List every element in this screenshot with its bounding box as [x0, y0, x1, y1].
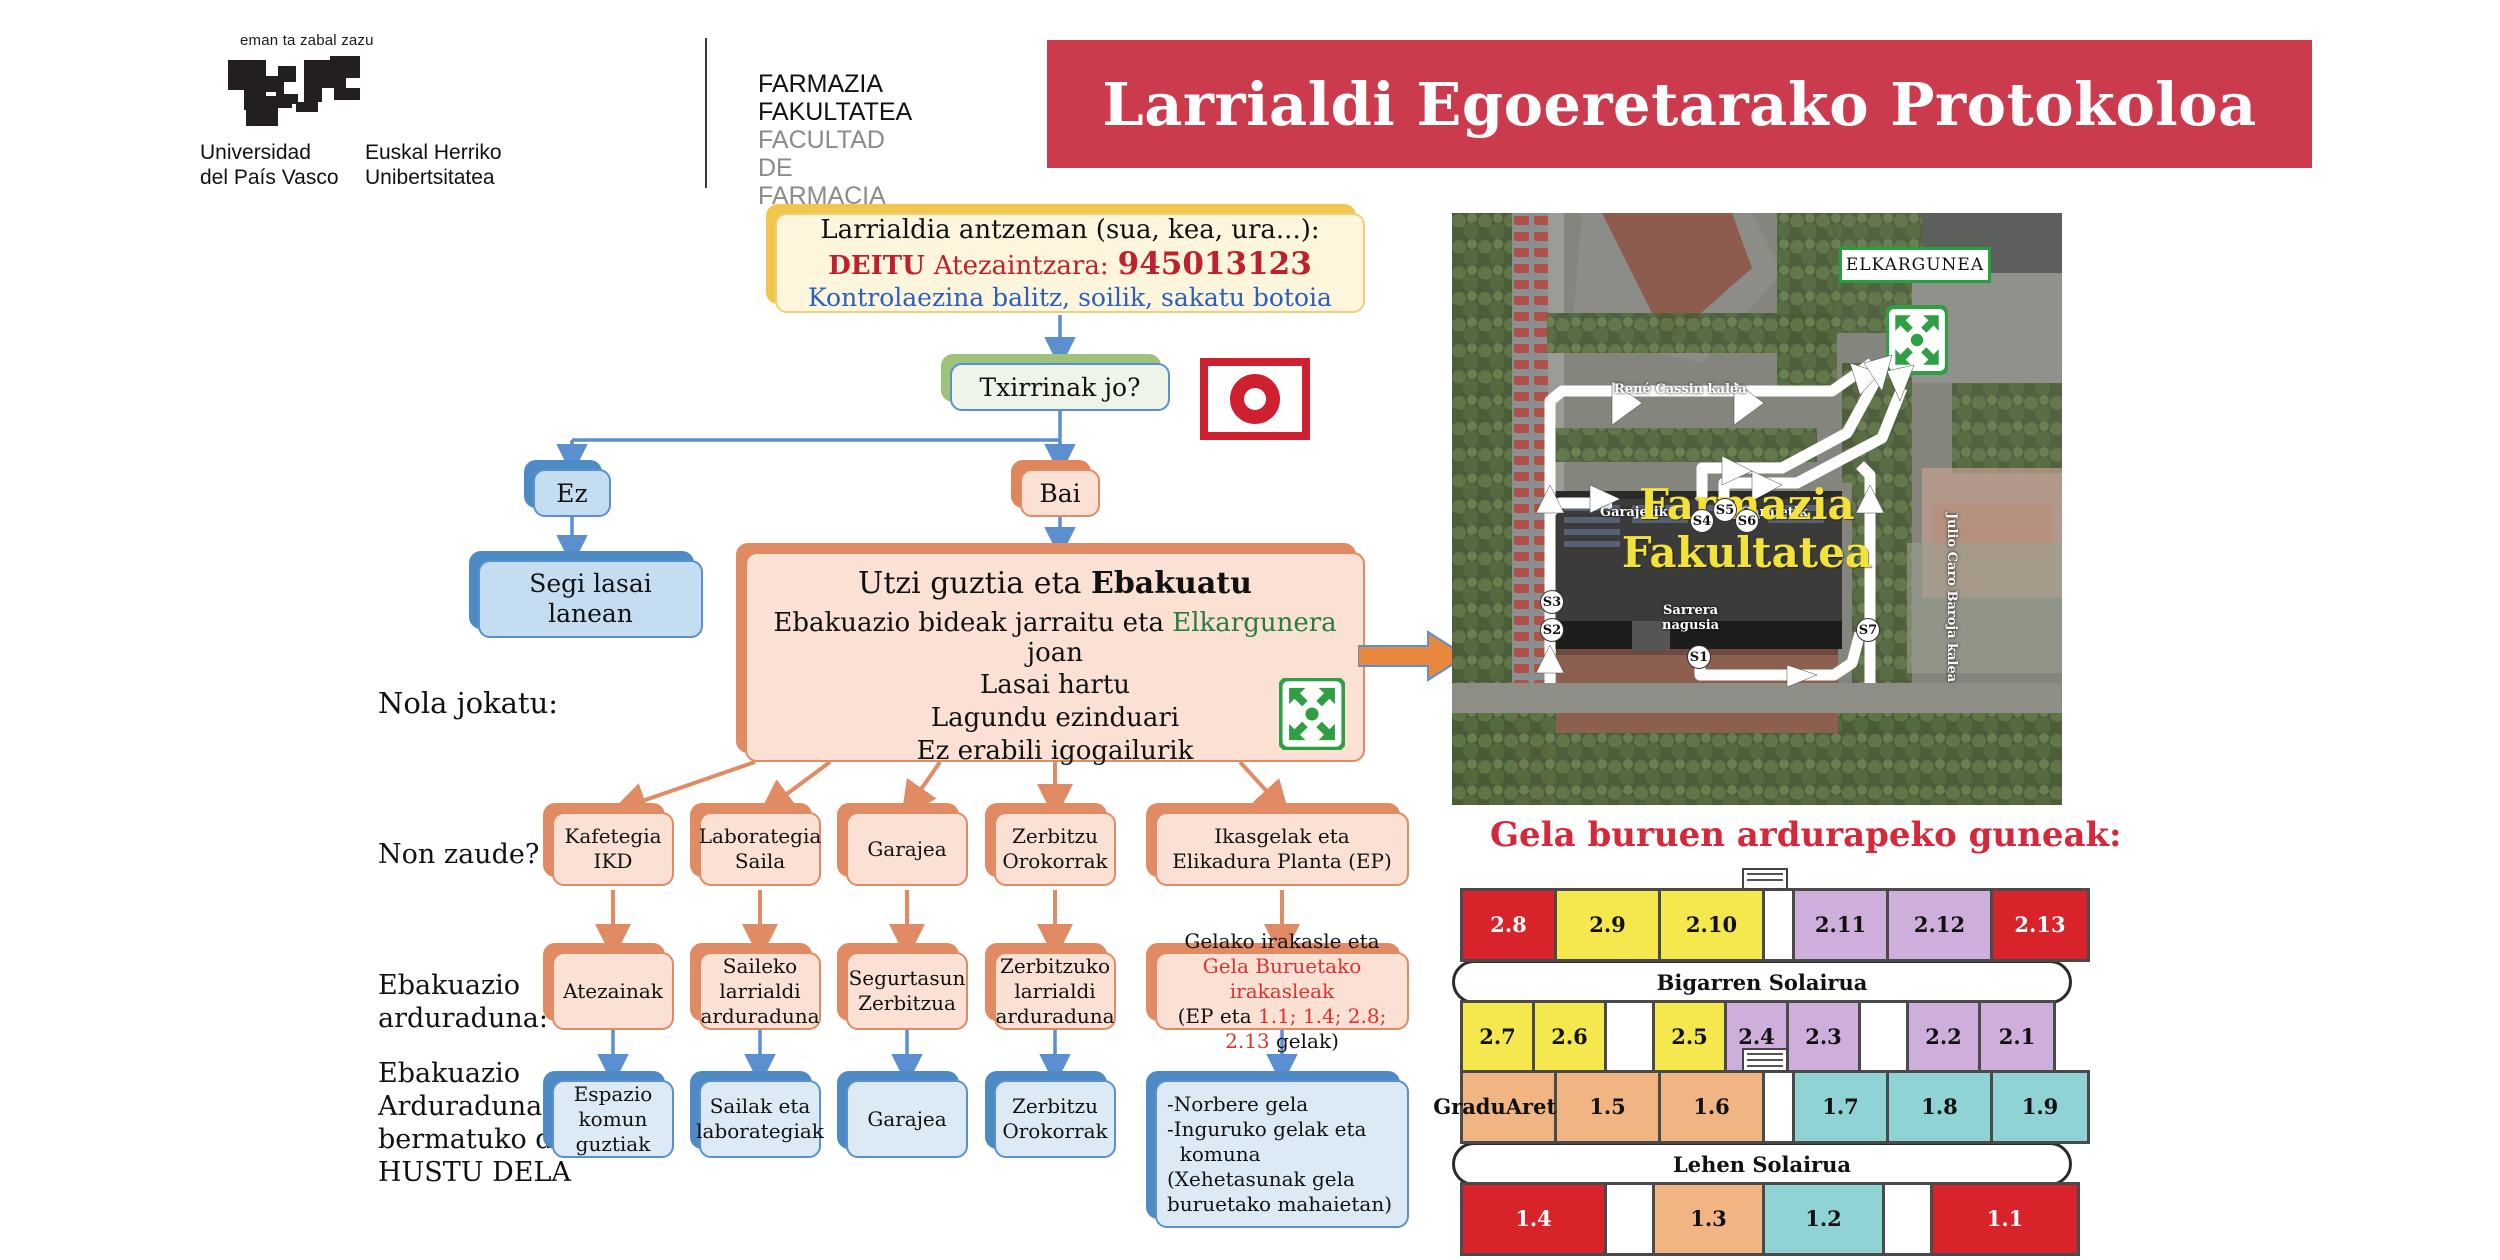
- where-box-garage: Garajea: [846, 812, 968, 886]
- where-line: IKD: [594, 849, 633, 874]
- room-cell-1.7: 1.7: [1795, 1073, 1889, 1141]
- box-body: Sailak eta laborategiak: [699, 1080, 821, 1158]
- responsible-line: Atezainak: [563, 979, 663, 1004]
- where-box-cafeteria: Kafetegia IKD: [552, 812, 674, 886]
- where-line: Kafetegia: [564, 824, 661, 849]
- box-body: Bai: [1020, 469, 1100, 517]
- room-label: 1.9: [2022, 1097, 2059, 1117]
- responsible-box-service: Zerbitzuko larrialdi arduraduna: [994, 952, 1116, 1030]
- box-body: Zerbitzu Orokorrak: [994, 812, 1116, 886]
- room-label: 1.4: [1515, 1209, 1552, 1229]
- floor1-bottom-wing: 1.41.31.21.1: [1460, 1182, 2080, 1256]
- responsible-line: arduraduna: [700, 1004, 819, 1029]
- plan-gap: [1861, 1003, 1909, 1071]
- responsible-line: larrialdi: [1014, 979, 1095, 1004]
- guarantee-line: -Inguruko gelak eta: [1167, 1117, 1366, 1142]
- emergency-alert-box: Larrialdia antzeman (sua, kea, ura...): …: [775, 213, 1365, 313]
- guarantee-line: komuna: [1167, 1142, 1261, 1167]
- guarantee-line: komun: [579, 1107, 648, 1132]
- exit-marker-s5: S5: [1713, 498, 1737, 522]
- floor-name-first: Lehen Solairua: [1452, 1152, 2072, 1177]
- responsible-rooms-line: (EP eta 1.1; 1.4; 2.8; 2.13 gelak): [1163, 1004, 1401, 1054]
- guarantee-line: Garajea: [867, 1107, 946, 1132]
- room-label: 1.7: [1822, 1097, 1859, 1117]
- room-cell-1.3: 1.3: [1655, 1185, 1765, 1253]
- box-body: Segi lasai lanean: [478, 560, 703, 638]
- box-body: Atezainak: [552, 952, 674, 1030]
- plan-gap: [1885, 1185, 1933, 1253]
- guarantee-box-garage: Garajea: [846, 1080, 968, 1158]
- room-cell-2.2: 2.2: [1909, 1003, 1981, 1071]
- room-cell-1.5: 1.5: [1557, 1073, 1661, 1141]
- box-body: Gelako irakasle eta Gela Buruetako iraka…: [1155, 952, 1409, 1030]
- rooms-pre: (EP eta: [1178, 1004, 1258, 1028]
- guarantee-line: Sailak eta: [710, 1094, 811, 1119]
- building-name-l2: Fakultatea: [1602, 529, 1892, 577]
- guarantee-line: (Xehetasunak gela: [1167, 1167, 1355, 1192]
- where-line: Orokorrak: [1002, 849, 1107, 874]
- room-cell-1.4: 1.4: [1463, 1185, 1607, 1253]
- faculty-name: FARMAZIA FAKULTATEA FACULTAD DE FARMACIA: [758, 70, 912, 210]
- evacuate-heading-bold: Ebakuatu: [1091, 566, 1252, 601]
- guarantee-box-own-room: -Norbere gela -Inguruko gelak eta komuna…: [1155, 1080, 1409, 1228]
- label-evacuation-responsible: Ebakuazio arduraduna:: [378, 969, 548, 1035]
- exit-marker-s2: S2: [1540, 618, 1564, 642]
- faculty-eu-l2: FAKULTATEA: [758, 98, 912, 126]
- stair-lines: [1747, 873, 1783, 885]
- room-label: 2.7: [1479, 1027, 1516, 1047]
- evacuate-heading: Utzi guztia eta Ebakuatu: [858, 566, 1252, 601]
- evacuate-sub-pre: Ebakuazio bideak jarraitu eta: [773, 608, 1172, 638]
- room-label: 2.6: [1551, 1027, 1588, 1047]
- entrance-l2: nagusia: [1662, 618, 1719, 633]
- alert-line-3: Kontrolaezina balitz, soilik, sakatu bot…: [808, 283, 1332, 312]
- stairwell-icon: [1742, 1048, 1788, 1072]
- where-box-laboratory: Laborategia Saila: [699, 812, 821, 886]
- room-cell-2.5: 2.5: [1655, 1003, 1727, 1071]
- evacuate-instruction-2: Lagundu ezinduari: [931, 703, 1179, 734]
- alarm-button-icon: [1200, 358, 1310, 440]
- responsible-line: Zerbitzua: [858, 991, 956, 1016]
- evacuate-sub: Ebakuazio bideak jarraitu eta Elkarguner…: [761, 608, 1349, 668]
- room-cell-2.1: 2.1: [1981, 1003, 2053, 1071]
- where-line: Garajea: [867, 837, 946, 862]
- room-cell-1.8: 1.8: [1889, 1073, 1993, 1141]
- label-gtee-l2: Arduradunak: [378, 1090, 571, 1123]
- assembly-point-icon: [1279, 678, 1345, 750]
- evacuate-instruction-3: Ez erabili igogailurik: [917, 736, 1194, 767]
- logo-divider: [705, 38, 707, 188]
- responsible-line: Gelako irakasle eta: [1184, 929, 1379, 954]
- box-body: Garajea: [846, 812, 968, 886]
- emergency-phone-number: 945013123: [1118, 246, 1312, 282]
- box-body: Ez: [533, 469, 611, 517]
- floor-name-second: Bigarren Solairua: [1452, 970, 2072, 995]
- room-label: Gradu: [1433, 1097, 1506, 1117]
- box-body: Zerbitzuko larrialdi arduraduna: [994, 952, 1116, 1030]
- faculty-eu-l1: FARMAZIA: [758, 70, 912, 98]
- guarantee-box-common-spaces: Espazio komun guztiak: [552, 1080, 674, 1158]
- evacuate-instruction-1: Lasai hartu: [980, 670, 1130, 701]
- room-label: 2.2: [1925, 1027, 1962, 1047]
- answer-yes-box[interactable]: Bai: [1020, 469, 1100, 517]
- guarantee-line: -Norbere gela: [1167, 1092, 1308, 1117]
- where-box-classrooms: Ikasgelak eta Elikadura Planta (EP): [1155, 812, 1409, 886]
- evacuate-heading-normal: Utzi guztia eta: [858, 566, 1091, 601]
- room-label: 2.1: [1999, 1027, 2036, 1047]
- guarantee-line: guztiak: [576, 1132, 651, 1157]
- stairwell-icon: [1742, 868, 1788, 890]
- label-evacuation-guarantee: Ebakuazio Arduradunak bermatuko du HUSTU…: [378, 1057, 571, 1189]
- room-cell-2.13: 2.13: [1993, 891, 2087, 959]
- where-line: Elikadura Planta (EP): [1172, 849, 1392, 874]
- alert-line-2: DEITU Atezaintzara: 945013123: [828, 246, 1312, 282]
- street-label-julio-caro-baroja: Julio Caro Baroja kalea: [1944, 513, 1959, 682]
- label-how-to-act: Nola jokatu:: [378, 687, 558, 720]
- where-box-general-services: Zerbitzu Orokorrak: [994, 812, 1116, 886]
- box-body: Segurtasun Zerbitzua: [846, 952, 968, 1030]
- continue-line-1: Segi lasai: [529, 569, 652, 599]
- evacuate-box: Utzi guztia eta Ebakuatu Ebakuazio bidea…: [745, 552, 1365, 762]
- where-line: Laborategia: [699, 824, 822, 849]
- continue-line-2: lanean: [548, 599, 633, 629]
- box-body: Zerbitzu Orokorrak: [994, 1080, 1116, 1158]
- responsible-line: arduraduna: [995, 1004, 1114, 1029]
- label-resp-l2: arduraduna:: [378, 1002, 548, 1035]
- label-where-are-you: Non zaude?: [378, 838, 539, 871]
- room-label: 1.8: [1921, 1097, 1958, 1117]
- exit-marker-s7: S7: [1856, 618, 1880, 642]
- label-resp-l1: Ebakuazio: [378, 969, 548, 1002]
- room-label: 2.9: [1589, 915, 1626, 935]
- label-gtee-l1: Ebakuazio: [378, 1057, 571, 1090]
- room-label: 2.12: [1914, 915, 1965, 935]
- room-cell-1.2: 1.2: [1765, 1185, 1885, 1253]
- box-body: Saileko larrialdi arduraduna: [699, 952, 821, 1030]
- alarm-ring: [1230, 374, 1280, 424]
- uni-name-eu-l2: Unibertsitatea: [365, 166, 495, 189]
- room-label: 1.3: [1690, 1209, 1727, 1229]
- box-body: -Norbere gela -Inguruko gelak eta komuna…: [1155, 1080, 1409, 1228]
- room-label: 2.4: [1738, 1027, 1775, 1047]
- page-title: Larrialdi Egoeretarako Protokoloa: [1102, 70, 2257, 139]
- room-cell-2.7: 2.7: [1463, 1003, 1535, 1071]
- room-cell-2.12: 2.12: [1889, 891, 1993, 959]
- box-body: Espazio komun guztiak: [552, 1080, 674, 1158]
- box-body: Utzi guztia eta Ebakuatu Ebakuazio bidea…: [745, 552, 1365, 762]
- university-name: Universidad del País Vasco Euskal Herrik…: [200, 140, 530, 190]
- box-body: Garajea: [846, 1080, 968, 1158]
- room-cell-1.1: 1.1: [1933, 1185, 2077, 1253]
- alert-call-word: DEITU: [828, 251, 925, 281]
- guarantee-box-general-services: Zerbitzu Orokorrak: [994, 1080, 1116, 1158]
- responsible-box-security: Segurtasun Zerbitzua: [846, 952, 968, 1030]
- room-label: 2.13: [2014, 915, 2065, 935]
- ehu-upv-logo: eman ta zabal zazu Universidad del País …: [210, 30, 680, 190]
- street-label-rene-cassin: René Cassin kalea: [1614, 382, 1747, 397]
- alert-call-target: Atezaintzara:: [934, 251, 1109, 281]
- responsible-line: Segurtasun: [849, 966, 966, 991]
- room-label: 2.3: [1805, 1027, 1842, 1047]
- guarantee-line: Espazio: [574, 1082, 653, 1107]
- room-label: 2.5: [1671, 1027, 1708, 1047]
- floor-plan-first: Lehen Solairua GraduAretoa1.51.61.71.81.…: [1452, 1070, 2072, 1260]
- plan-gap: [1765, 891, 1795, 959]
- floor1-top-wing: GraduAretoa1.51.61.71.81.9: [1460, 1070, 2090, 1144]
- room-label: 2.8: [1490, 915, 1527, 935]
- evacuation-map: ELKARGUNEA: [1452, 213, 2062, 805]
- uni-name-es-l1: Universidad: [200, 141, 311, 164]
- exit-marker-s4: S4: [1690, 509, 1714, 533]
- evacuate-sub-post: joan: [1027, 638, 1083, 668]
- responsible-line: Saileko: [723, 954, 797, 979]
- responsible-box-department: Saileko larrialdi arduraduna: [699, 952, 821, 1030]
- guarantee-line: buruetako mahaietan): [1167, 1192, 1392, 1217]
- responsible-box-doorkeepers: Atezainak: [552, 952, 674, 1030]
- floor2-top-wing: 2.82.92.102.112.122.13: [1460, 888, 2090, 962]
- where-line: Saila: [735, 849, 785, 874]
- rooms-post: gelak): [1270, 1029, 1339, 1053]
- guarantee-line: Zerbitzu: [1012, 1094, 1098, 1119]
- alert-line-1: Larrialdia antzeman (sua, kea, ura...):: [820, 215, 1319, 245]
- box-body: Ikasgelak eta Elikadura Planta (EP): [1155, 812, 1409, 886]
- box-body: Laborategia Saila: [699, 812, 821, 886]
- where-line: Zerbitzu: [1012, 824, 1098, 849]
- stair-lines: [1747, 1053, 1783, 1067]
- page-title-banner: Larrialdi Egoeretarako Protokoloa: [1047, 40, 2312, 168]
- continue-working-box: Segi lasai lanean: [478, 560, 703, 638]
- uni-name-es-l2: del País Vasco: [200, 166, 339, 189]
- guarantee-line: Orokorrak: [1002, 1119, 1107, 1144]
- plan-gap: [1765, 1073, 1795, 1141]
- box-body: Larrialdia antzeman (sua, kea, ura...): …: [775, 213, 1365, 313]
- room-cell-1.9: 1.9: [1993, 1073, 2087, 1141]
- answer-no-box[interactable]: Ez: [533, 469, 611, 517]
- room-label: 1.5: [1589, 1097, 1626, 1117]
- box-body: Kafetegia IKD: [552, 812, 674, 886]
- main-entrance-label: Sarrera nagusia: [1662, 603, 1719, 633]
- room-cell-2.6: 2.6: [1535, 1003, 1607, 1071]
- room-cell-gradu-aretoa: GraduAretoa: [1463, 1073, 1557, 1141]
- assembly-point-word: Elkargunera: [1172, 608, 1336, 638]
- label-gtee-l4: HUSTU DELA: [378, 1156, 571, 1189]
- logo-motto: eman ta zabal zazu: [240, 32, 374, 49]
- room-label: 1.2: [1805, 1209, 1842, 1229]
- guarantee-line: laborategiak: [696, 1119, 824, 1144]
- plan-gap: [1607, 1003, 1655, 1071]
- exit-marker-s1: S1: [1687, 645, 1711, 669]
- room-label: 1.1: [1987, 1209, 2024, 1229]
- room-cell-2.8: 2.8: [1463, 891, 1557, 959]
- room-label: 2.10: [1686, 915, 1737, 935]
- room-cell-2.11: 2.11: [1795, 891, 1889, 959]
- ehu-logo-mark: [218, 52, 398, 132]
- exit-marker-s6: S6: [1735, 509, 1759, 533]
- where-line: Ikasgelak eta: [1214, 824, 1349, 849]
- exit-marker-s3: S3: [1540, 590, 1564, 614]
- guarantee-box-departments-labs: Sailak eta laborategiak: [699, 1080, 821, 1158]
- room-label: 2.11: [1815, 915, 1866, 935]
- room-cell-1.6: 1.6: [1661, 1073, 1765, 1141]
- room-label: 1.6: [1693, 1097, 1730, 1117]
- entrance-l1: Sarrera: [1662, 603, 1719, 618]
- faculty-es-l1: FACULTAD: [758, 126, 912, 154]
- bell-question-box[interactable]: Txirrinak jo?: [950, 363, 1170, 411]
- room-cell-2.10: 2.10: [1661, 891, 1765, 959]
- responsible-box-teachers: Gelako irakasle eta Gela Buruetako iraka…: [1155, 952, 1409, 1030]
- floor-plans-title: Gela buruen ardurapeko guneak:: [1490, 815, 2122, 855]
- responsible-line-highlight: Gela Buruetako irakasleak: [1163, 954, 1401, 1004]
- room-cell-2.3: 2.3: [1789, 1003, 1861, 1071]
- responsible-line: Zerbitzuko: [1000, 954, 1110, 979]
- room-cell-2.9: 2.9: [1557, 891, 1661, 959]
- faculty-es-l2: DE FARMACIA: [758, 154, 912, 210]
- uni-name-eu-l1: Euskal Herriko: [365, 141, 502, 164]
- box-body: Txirrinak jo?: [950, 363, 1170, 411]
- label-gtee-l3: bermatuko du: [378, 1123, 571, 1156]
- responsible-line: larrialdi: [719, 979, 800, 1004]
- plan-gap: [1607, 1185, 1655, 1253]
